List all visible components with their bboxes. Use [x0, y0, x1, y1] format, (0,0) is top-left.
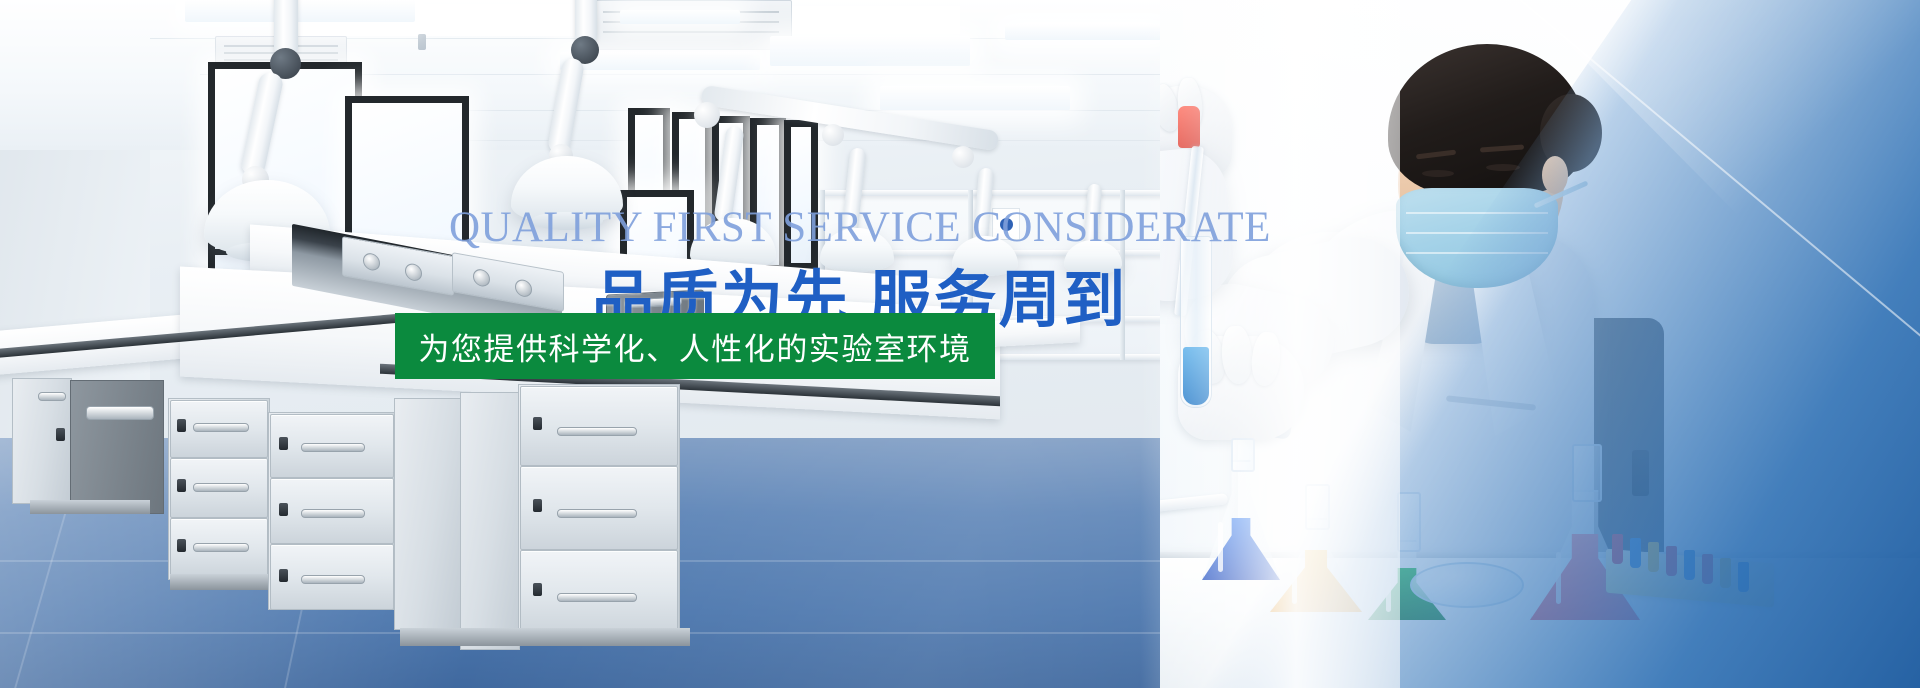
english-tagline: QUALITY FIRST SERVICE CONSIDERATE	[449, 206, 1269, 249]
text-overlay: QUALITY FIRST SERVICE CONSIDERATE 品质为先 服…	[0, 0, 1920, 688]
promo-banner: QUALITY FIRST SERVICE CONSIDERATE 品质为先 服…	[0, 0, 1920, 688]
subtitle-band: 为您提供科学化、人性化的实验室环境	[395, 313, 995, 379]
banner-subtitle: 为您提供科学化、人性化的实验室环境	[418, 324, 971, 369]
